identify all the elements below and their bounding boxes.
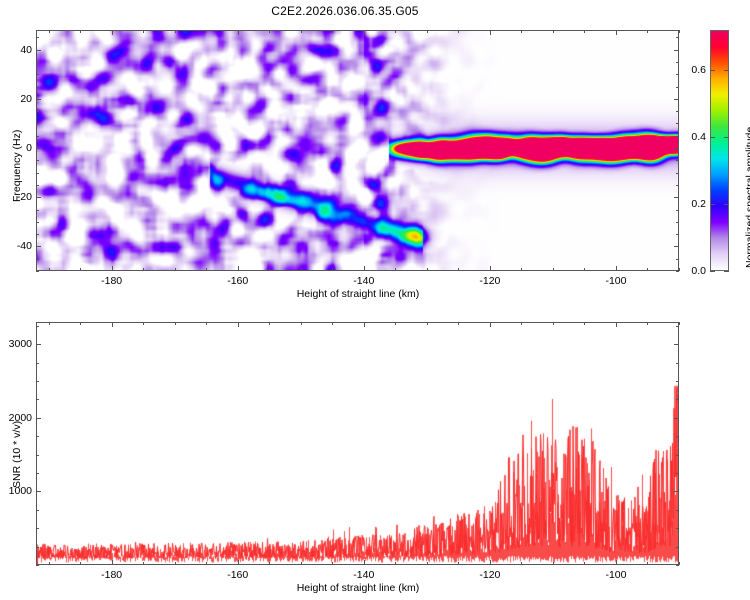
- axis-minor-tick: [206, 562, 207, 565]
- axis-minor-tick: [36, 455, 39, 456]
- colorbar-tick: [724, 70, 729, 71]
- axis-minor-tick: [395, 30, 396, 33]
- axis-tick: [674, 99, 679, 100]
- spectrogram-xaxis-label: Height of straight line (km): [297, 288, 420, 300]
- axis-tick: [364, 560, 365, 565]
- colorbar-tick: [710, 70, 715, 71]
- snr-xaxis-label: Height of straight line (km): [297, 582, 420, 594]
- axis-minor-tick: [676, 123, 679, 124]
- colorbar-tick: [724, 137, 729, 138]
- axis-minor-tick: [49, 30, 50, 33]
- axis-minor-tick: [676, 74, 679, 75]
- axis-minor-tick: [36, 62, 39, 63]
- axis-minor-tick: [143, 322, 144, 325]
- axis-minor-tick: [206, 30, 207, 33]
- colorbar: [710, 30, 729, 271]
- axis-tick: [36, 50, 41, 51]
- figure-title: C2E2.2026.036.06.35.G05: [0, 4, 690, 18]
- axis-minor-tick: [175, 562, 176, 565]
- axis-minor-tick: [175, 322, 176, 325]
- axis-minor-tick: [584, 30, 585, 33]
- axis-minor-tick: [553, 30, 554, 33]
- colorbar-tick-label: 0.4: [691, 131, 706, 143]
- axis-minor-tick: [676, 436, 679, 437]
- axis-minor-tick: [676, 547, 679, 548]
- spectrogram-panel: [36, 30, 679, 271]
- axis-minor-tick: [301, 30, 302, 33]
- colorbar-tick-label: 0.6: [691, 64, 706, 76]
- axis-minor-tick: [49, 562, 50, 565]
- axis-minor-tick: [36, 87, 39, 88]
- axis-minor-tick: [676, 210, 679, 211]
- axis-minor-tick: [36, 173, 39, 174]
- axis-minor-tick: [36, 547, 39, 548]
- axis-tick-label: -180: [101, 275, 122, 287]
- axis-minor-tick: [36, 381, 39, 382]
- axis-minor-tick: [49, 268, 50, 271]
- axis-tick: [364, 30, 365, 35]
- axis-minor-tick: [458, 268, 459, 271]
- axis-tick: [616, 322, 617, 327]
- colorbar-tick: [724, 271, 729, 272]
- axis-minor-tick: [36, 136, 39, 137]
- axis-minor-tick: [36, 326, 39, 327]
- spectrogram-canvas: [37, 31, 678, 270]
- axis-minor-tick: [584, 562, 585, 565]
- axis-minor-tick: [676, 455, 679, 456]
- axis-minor-tick: [676, 62, 679, 63]
- axis-tick: [238, 560, 239, 565]
- axis-minor-tick: [269, 30, 270, 33]
- axis-minor-tick: [36, 399, 39, 400]
- axis-minor-tick: [679, 268, 680, 271]
- axis-tick: [112, 560, 113, 565]
- axis-tick: [36, 418, 41, 419]
- axis-tick: [36, 99, 41, 100]
- axis-minor-tick: [395, 268, 396, 271]
- axis-tick: [616, 30, 617, 35]
- axis-minor-tick: [679, 322, 680, 325]
- axis-minor-tick: [269, 268, 270, 271]
- axis-minor-tick: [676, 326, 679, 327]
- axis-minor-tick: [175, 30, 176, 33]
- axis-minor-tick: [553, 562, 554, 565]
- axis-minor-tick: [332, 268, 333, 271]
- axis-minor-tick: [80, 562, 81, 565]
- axis-minor-tick: [206, 322, 207, 325]
- axis-tick: [36, 491, 41, 492]
- axis-tick-label: -160: [227, 275, 248, 287]
- axis-minor-tick: [679, 562, 680, 565]
- axis-minor-tick: [143, 562, 144, 565]
- axis-minor-tick: [458, 30, 459, 33]
- axis-minor-tick: [175, 268, 176, 271]
- spectrogram-yaxis-label: Frequency (Hz): [11, 130, 23, 202]
- axis-tick: [674, 148, 679, 149]
- axis-minor-tick: [647, 322, 648, 325]
- axis-tick: [490, 322, 491, 327]
- axis-minor-tick: [36, 185, 39, 186]
- axis-minor-tick: [676, 185, 679, 186]
- axis-minor-tick: [395, 562, 396, 565]
- axis-minor-tick: [36, 37, 39, 38]
- axis-tick-label: -180: [101, 569, 122, 581]
- axis-tick: [36, 197, 41, 198]
- axis-minor-tick: [301, 322, 302, 325]
- axis-tick: [112, 322, 113, 327]
- axis-minor-tick: [36, 510, 39, 511]
- axis-minor-tick: [676, 259, 679, 260]
- axis-minor-tick: [301, 562, 302, 565]
- axis-tick: [364, 266, 365, 271]
- axis-tick: [616, 560, 617, 565]
- axis-tick-label: -100: [605, 569, 626, 581]
- colorbar-tick: [724, 204, 729, 205]
- axis-minor-tick: [521, 562, 522, 565]
- axis-minor-tick: [427, 268, 428, 271]
- axis-minor-tick: [679, 30, 680, 33]
- colorbar-tick: [710, 271, 715, 272]
- colorbar-tick: [710, 137, 715, 138]
- axis-minor-tick: [676, 173, 679, 174]
- axis-minor-tick: [676, 234, 679, 235]
- axis-minor-tick: [676, 37, 679, 38]
- axis-minor-tick: [143, 268, 144, 271]
- axis-tick: [364, 322, 365, 327]
- axis-minor-tick: [676, 222, 679, 223]
- axis-minor-tick: [427, 30, 428, 33]
- colorbar-tick: [710, 204, 715, 205]
- snr-canvas: [37, 323, 678, 564]
- axis-minor-tick: [332, 322, 333, 325]
- axis-tick-label: -140: [353, 275, 374, 287]
- axis-minor-tick: [36, 363, 39, 364]
- axis-minor-tick: [301, 268, 302, 271]
- axis-tick-label: 40: [6, 44, 32, 56]
- axis-minor-tick: [36, 222, 39, 223]
- axis-minor-tick: [36, 111, 39, 112]
- axis-tick-label: 20: [6, 93, 32, 105]
- axis-minor-tick: [36, 528, 39, 529]
- axis-minor-tick: [676, 271, 679, 272]
- axis-minor-tick: [676, 528, 679, 529]
- axis-minor-tick: [427, 322, 428, 325]
- axis-minor-tick: [676, 381, 679, 382]
- axis-tick-label: 3000: [6, 338, 32, 350]
- axis-tick: [616, 266, 617, 271]
- axis-minor-tick: [458, 322, 459, 325]
- axis-minor-tick: [458, 562, 459, 565]
- axis-tick: [674, 50, 679, 51]
- axis-minor-tick: [427, 562, 428, 565]
- axis-minor-tick: [36, 210, 39, 211]
- axis-minor-tick: [36, 565, 39, 566]
- axis-tick: [238, 266, 239, 271]
- axis-minor-tick: [676, 473, 679, 474]
- axis-minor-tick: [143, 30, 144, 33]
- axis-tick: [674, 344, 679, 345]
- axis-tick: [112, 266, 113, 271]
- axis-tick-label: -140: [353, 569, 374, 581]
- axis-minor-tick: [80, 322, 81, 325]
- axis-tick-label: -160: [227, 569, 248, 581]
- axis-minor-tick: [521, 268, 522, 271]
- axis-minor-tick: [553, 268, 554, 271]
- axis-minor-tick: [80, 268, 81, 271]
- axis-tick: [238, 322, 239, 327]
- axis-minor-tick: [36, 123, 39, 124]
- axis-minor-tick: [36, 436, 39, 437]
- axis-tick-label: -120: [479, 569, 500, 581]
- axis-tick-label: -120: [479, 275, 500, 287]
- axis-minor-tick: [676, 565, 679, 566]
- axis-tick: [674, 418, 679, 419]
- axis-minor-tick: [80, 30, 81, 33]
- axis-tick: [36, 246, 41, 247]
- snr-plot-area: [37, 323, 678, 564]
- axis-tick-label: -40: [6, 240, 32, 252]
- axis-minor-tick: [206, 268, 207, 271]
- axis-minor-tick: [584, 322, 585, 325]
- spectrogram-plot-area: [37, 31, 678, 270]
- snr-yaxis-label: SNR (10 * v/v): [11, 421, 23, 488]
- axis-minor-tick: [647, 562, 648, 565]
- axis-minor-tick: [49, 322, 50, 325]
- axis-tick: [36, 344, 41, 345]
- axis-minor-tick: [269, 322, 270, 325]
- colorbar-gradient: [711, 31, 728, 270]
- axis-minor-tick: [676, 87, 679, 88]
- axis-minor-tick: [676, 111, 679, 112]
- axis-minor-tick: [332, 562, 333, 565]
- axis-minor-tick: [647, 268, 648, 271]
- axis-minor-tick: [676, 160, 679, 161]
- axis-tick: [490, 30, 491, 35]
- axis-minor-tick: [36, 160, 39, 161]
- axis-minor-tick: [676, 399, 679, 400]
- axis-minor-tick: [676, 510, 679, 511]
- axis-minor-tick: [521, 30, 522, 33]
- colorbar-tick-label: 0.2: [691, 198, 706, 210]
- colorbar-label: Normalized spectral amplitude: [744, 127, 750, 268]
- axis-minor-tick: [36, 473, 39, 474]
- axis-tick: [36, 148, 41, 149]
- axis-tick: [112, 30, 113, 35]
- axis-minor-tick: [584, 268, 585, 271]
- axis-tick: [490, 560, 491, 565]
- axis-minor-tick: [676, 363, 679, 364]
- axis-minor-tick: [647, 30, 648, 33]
- axis-minor-tick: [521, 322, 522, 325]
- snr-panel: [36, 322, 679, 565]
- axis-minor-tick: [36, 74, 39, 75]
- axis-minor-tick: [36, 234, 39, 235]
- axis-tick: [674, 197, 679, 198]
- axis-minor-tick: [36, 259, 39, 260]
- axis-minor-tick: [676, 136, 679, 137]
- axis-minor-tick: [553, 322, 554, 325]
- axis-minor-tick: [36, 271, 39, 272]
- axis-tick: [490, 266, 491, 271]
- axis-minor-tick: [332, 30, 333, 33]
- colorbar-tick-label: 0.0: [691, 265, 706, 277]
- axis-tick-label: -100: [605, 275, 626, 287]
- axis-tick: [674, 246, 679, 247]
- axis-tick: [238, 30, 239, 35]
- axis-minor-tick: [269, 562, 270, 565]
- axis-minor-tick: [395, 322, 396, 325]
- axis-tick: [674, 491, 679, 492]
